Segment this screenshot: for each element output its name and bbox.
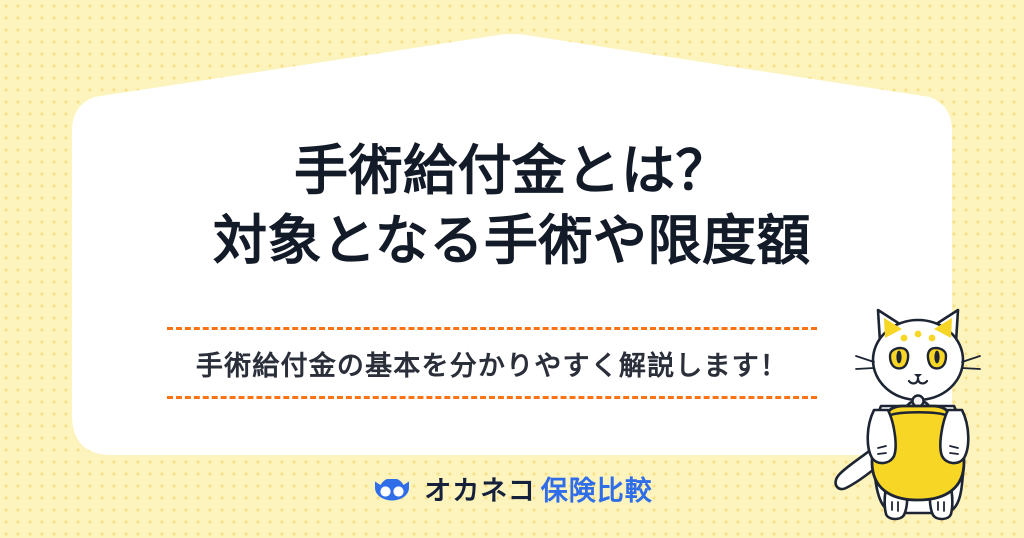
logo-brand-text: オカネコ	[424, 476, 535, 506]
okaneko-cat-face-icon	[371, 479, 413, 505]
okaneko-cat-mascot	[828, 298, 1008, 538]
dashed-divider-bottom	[167, 396, 817, 399]
logo-wordmark: オカネコ保険比較	[424, 478, 652, 505]
title-line-2: 対象となる手術や限度額	[72, 210, 952, 274]
subtitle-text: 手術給付金の基本を分かりやすく解説します！	[167, 330, 817, 396]
logo-suffix-text: 保険比較	[541, 476, 653, 506]
hero-banner: 手術給付金とは？ 対象となる手術や限度額 手術給付金の基本を分かりやすく解説しま…	[0, 0, 1024, 538]
title-line-1: 手術給付金とは？	[72, 140, 952, 204]
page-title: 手術給付金とは？ 対象となる手術や限度額	[72, 140, 952, 273]
subtitle-block: 手術給付金の基本を分かりやすく解説します！	[167, 327, 817, 399]
